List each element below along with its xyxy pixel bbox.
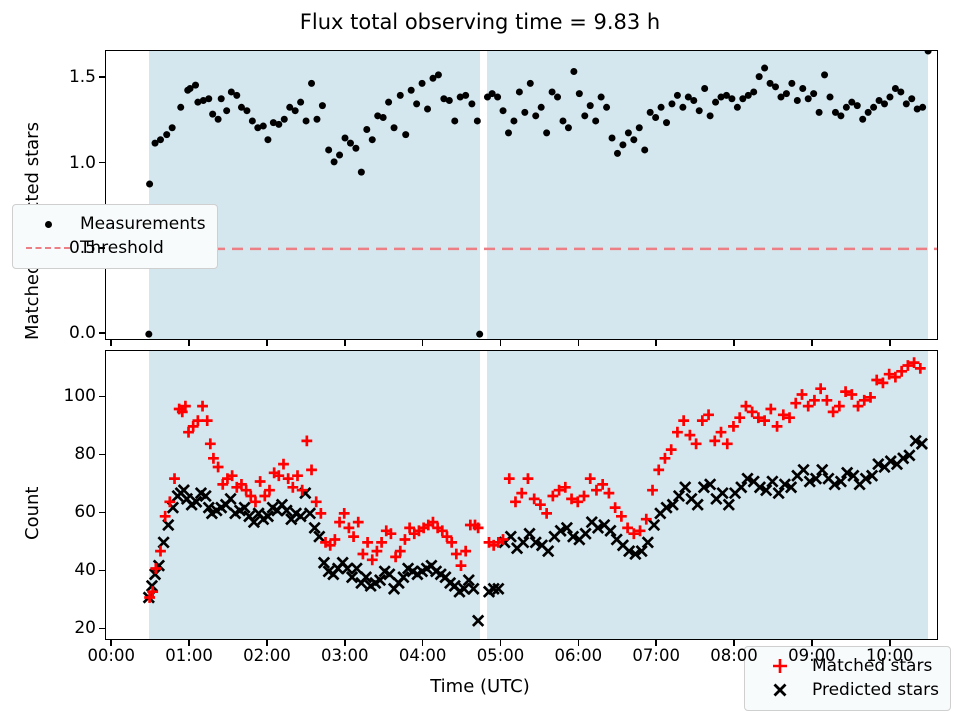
matched-star-point (460, 546, 471, 557)
measurement-point (462, 92, 469, 99)
measurement-point (658, 104, 665, 111)
predicted-star-point (767, 476, 777, 486)
x-tick-label: 00:00 (87, 646, 135, 665)
x-tick-label: 04:00 (399, 646, 447, 665)
measurement-point (352, 145, 359, 152)
measurement-point (772, 83, 779, 90)
top-panel-y-tick-label: 1.0 (36, 153, 96, 173)
matched-star-point (834, 401, 845, 412)
measurement-point (297, 99, 304, 106)
x-tick-mark (266, 640, 268, 646)
matched-star-point (604, 488, 615, 499)
measurement-point (516, 88, 523, 95)
measurement-point (843, 104, 850, 111)
matched-star-point (678, 415, 689, 426)
measurement-point (532, 112, 539, 119)
predicted-star-point (543, 546, 553, 556)
measurement-point (146, 181, 153, 188)
measurement-point (358, 169, 365, 176)
predicted-star-point (643, 537, 653, 547)
measurement-point (177, 104, 184, 111)
bottom-panel-y-tick-label: 40 (36, 560, 96, 580)
measurement-point (897, 88, 904, 95)
measurement-point (446, 97, 453, 104)
matched-star-point (456, 560, 467, 571)
measurement-point (707, 112, 714, 119)
matched-star-point (451, 549, 462, 560)
top-panel-y-tick-mark (99, 332, 105, 334)
measurement-point (303, 117, 310, 124)
x-tick-label: 01:00 (165, 646, 213, 665)
measurement-point (925, 51, 932, 55)
measurement-point (870, 104, 877, 111)
measurement-point (756, 73, 763, 80)
matched-star-point (772, 421, 783, 432)
measurement-point (805, 95, 812, 102)
x-tick-mark-top-panel (188, 340, 190, 346)
measurement-point (336, 152, 343, 159)
x-tick-mark (500, 640, 502, 646)
bottom-panel-y-tick-mark (99, 454, 105, 456)
top-panel-y-tick-label: 1.5 (36, 67, 96, 87)
matched-star-point (666, 444, 677, 455)
measurement-point (761, 65, 768, 72)
matched-star-point (747, 407, 758, 418)
matched-star-point (722, 438, 733, 449)
measurement-point (319, 102, 326, 109)
predicted-star-point (524, 529, 534, 539)
x-tick-mark (578, 640, 580, 646)
x-tick-mark (344, 640, 346, 646)
matched-star-point (353, 517, 364, 528)
x-tick-label: 07:00 (632, 646, 680, 665)
measurement-point (209, 111, 216, 118)
x-tick-mark (422, 640, 424, 646)
x-tick-mark (188, 640, 190, 646)
measurement-point (527, 80, 534, 87)
matched-star-point (709, 436, 720, 447)
matched-star-point (672, 427, 683, 438)
measurement-point (380, 114, 387, 121)
x-tick-mark (889, 640, 891, 646)
matched-star-point (896, 366, 907, 377)
measurement-point (505, 129, 512, 136)
bottom-panel-y-tick-mark (99, 512, 105, 514)
measurement-point (451, 117, 458, 124)
measurement-point (413, 100, 420, 107)
matched-star-point (541, 508, 552, 519)
measurement-point (630, 136, 637, 143)
measurement-point (827, 94, 834, 101)
measurement-point (549, 88, 556, 95)
measurement-point (581, 112, 588, 119)
measurement-point (264, 136, 271, 143)
predicted-star-point (605, 526, 615, 536)
measurement-point (313, 116, 320, 123)
measurement-point (592, 117, 599, 124)
measurement-point (652, 114, 659, 121)
matched-star-point (510, 496, 521, 507)
matched-star-point (703, 409, 714, 420)
measurement-point (636, 124, 643, 131)
predicted-star-point (179, 485, 189, 495)
matched-star-point (311, 496, 322, 507)
predicted-star-point (305, 508, 315, 518)
x-tick-label: 03:00 (321, 646, 369, 665)
measurement-point (500, 107, 507, 114)
measurement-point (169, 124, 176, 131)
x-tick-label: 02:00 (243, 646, 291, 665)
measurement-point (215, 116, 222, 123)
measurement-point (494, 94, 501, 101)
measurement-point (903, 100, 910, 107)
measurement-point (881, 100, 888, 107)
x-tick-mark (655, 640, 657, 646)
measurement-point (598, 94, 605, 101)
measurement-point (854, 102, 861, 109)
matched-star-point (915, 363, 926, 374)
x-tick-label: 09:00 (788, 646, 836, 665)
matched-star-point (610, 502, 621, 513)
measurement-point (347, 140, 354, 147)
measurement-point (919, 104, 926, 111)
top-panel-y-tick-mark (99, 76, 105, 78)
matched-star-point (622, 523, 633, 534)
measurement-point (363, 126, 370, 133)
x-tick-mark-top-panel (655, 340, 657, 346)
measurement-point (783, 90, 790, 97)
x-tick-mark-top-panel (500, 340, 502, 346)
x-tick-mark-top-panel (422, 340, 424, 346)
bottom-panel-y-tick-mark (99, 570, 105, 572)
measurement-point (281, 116, 288, 123)
predicted-star-point (473, 616, 483, 626)
bottom-panel-y-tick-label: 100 (36, 386, 96, 406)
measurement-point (192, 82, 199, 89)
matched-star-point (815, 383, 826, 394)
matched-star-point (821, 395, 832, 406)
measurement-point (810, 90, 817, 97)
measurement-point (614, 150, 621, 157)
bottom-panel-data-layer (106, 351, 937, 639)
measurement-point (205, 95, 212, 102)
matched-star-point (741, 401, 752, 412)
measurement-point (788, 80, 795, 87)
matched-star-point (691, 438, 702, 449)
matched-star-point (155, 546, 166, 557)
top-panel-y-tick-label: 0.5 (36, 238, 96, 258)
matched-star-point (853, 401, 864, 412)
measurement-point (145, 331, 152, 338)
top-panel-y-tick-mark (99, 162, 105, 164)
measurement-point (859, 116, 866, 123)
bottom-panel-y-tick-mark (99, 628, 105, 630)
matched-star-point (400, 534, 411, 545)
matched-star-point (653, 465, 664, 476)
matched-star-point (660, 453, 671, 464)
measurement-point (690, 97, 697, 104)
matched-star-point (728, 421, 739, 432)
predicted-star-point (717, 488, 727, 498)
measurement-point (223, 107, 230, 114)
matched-star-point (529, 494, 540, 505)
measurement-point (369, 136, 376, 143)
measurement-point (647, 109, 654, 116)
matched-star-point (504, 473, 515, 484)
predicted-star-point (724, 500, 734, 510)
matched-star-point (790, 398, 801, 409)
measurement-point (641, 146, 648, 153)
predicted-star-point (680, 482, 690, 492)
top-panel-legend[interactable]: Measurements Threshold (12, 204, 218, 269)
measurement-point (408, 87, 415, 94)
legend-label-measurements: Measurements (74, 212, 206, 236)
top-panel-y-tick-mark (99, 247, 105, 249)
matched-star-point (523, 473, 534, 484)
figure-root: Flux total observing time = 9.83 h Match… (0, 0, 960, 720)
x-tick-mark (811, 640, 813, 646)
measurement-point (476, 331, 483, 338)
measurement-point (865, 109, 872, 116)
measurement-point (674, 92, 681, 99)
matched-star-point (716, 427, 727, 438)
top-panel-plot-area (106, 51, 937, 339)
measurement-point (886, 94, 893, 101)
measurement-point (163, 131, 170, 138)
x-tick-mark-top-panel (266, 340, 268, 346)
matched-star-point (292, 470, 303, 481)
measurement-point (668, 100, 675, 107)
predicted-star-point (649, 520, 659, 530)
measurement-point (587, 102, 594, 109)
measurement-point (908, 95, 915, 102)
bottom-panel-plot-area (106, 351, 937, 639)
measurement-point (712, 99, 719, 106)
top-panel-axes (105, 50, 938, 340)
x-tick-label: 08:00 (710, 646, 758, 665)
x-tick-label: 06:00 (555, 646, 603, 665)
matched-star-point (202, 415, 213, 426)
top-panel-data-layer (106, 51, 937, 339)
measurement-point (565, 124, 572, 131)
matched-star-point (315, 508, 326, 519)
measurement-point (218, 95, 225, 102)
predicted-star-point (798, 465, 808, 475)
predicted-star-point (692, 500, 702, 510)
measurement-point (734, 104, 741, 111)
measurement-point (331, 158, 338, 165)
predicted-star-point (225, 494, 235, 504)
matched-star-point (278, 459, 289, 470)
matched-star-point (358, 549, 369, 560)
predicted-star-point (736, 482, 746, 492)
matched-star-point (306, 465, 317, 476)
x-tick-mark-top-panel (889, 340, 891, 346)
predicted-stars-points (144, 436, 927, 626)
measurement-point (554, 94, 561, 101)
measurement-point (816, 109, 823, 116)
measurement-point (402, 131, 409, 138)
top-panel-y-tick-label: 0.0 (36, 323, 96, 343)
bottom-panel-axes (105, 350, 938, 640)
x-tick-mark-top-panel (578, 340, 580, 346)
matched-star-point (797, 389, 808, 400)
measurement-point (275, 121, 282, 128)
legend-entry-measurements: Measurements (22, 212, 206, 236)
measurement-point (603, 104, 610, 111)
matched-star-point (641, 514, 652, 525)
matched-star-point (585, 473, 596, 484)
matched-star-point (197, 401, 208, 412)
x-tick-mark-top-panel (811, 340, 813, 346)
measurement-point (794, 97, 801, 104)
measurement-point (750, 88, 757, 95)
predicted-star-point (674, 491, 684, 501)
matched-star-point (205, 438, 216, 449)
x-tick-mark-top-panel (110, 340, 112, 346)
matched-star-point (734, 412, 745, 423)
predicted-star-point (817, 465, 827, 475)
figure-title: Flux total observing time = 9.83 h (0, 10, 960, 34)
predicted-star-point (580, 529, 590, 539)
matched-star-point (535, 499, 546, 510)
measurement-point (419, 80, 426, 87)
x-tick-label: 10:00 (866, 646, 914, 665)
matched-star-point (362, 537, 373, 548)
measurement-point (385, 99, 392, 106)
measurement-point (233, 92, 240, 99)
measurements-points (145, 51, 931, 338)
matched-star-point (597, 479, 608, 490)
matched-star-point (803, 401, 814, 412)
matched-star-point (647, 485, 658, 496)
predicted-star-point (773, 488, 783, 498)
predicted-star-point (518, 537, 528, 547)
measurement-point (435, 71, 442, 78)
matched-star-point (169, 473, 180, 484)
measurement-point (625, 129, 632, 136)
matched-star-point (547, 491, 558, 502)
matched-star-point (809, 395, 820, 406)
matched-star-point (591, 485, 602, 496)
x-axis-label: Time (UTC) (0, 676, 960, 697)
measurement-point (510, 117, 517, 124)
measurement-point (696, 107, 703, 114)
measurement-point (663, 119, 670, 126)
measurement-point (260, 123, 267, 130)
measurement-point (521, 109, 528, 116)
matched-star-point (301, 436, 312, 447)
measurement-point (570, 68, 577, 75)
measurement-point (468, 100, 475, 107)
measurement-point (821, 71, 828, 78)
bottom-panel-y-tick-label: 80 (36, 444, 96, 464)
matched-star-point (255, 476, 266, 487)
measurement-point (799, 85, 806, 92)
measurement-point (424, 106, 431, 113)
measurement-point (679, 104, 686, 111)
measurement-point (559, 117, 566, 124)
matched-star-point (765, 404, 776, 415)
measurement-point (292, 107, 299, 114)
measurement-point (325, 146, 332, 153)
x-tick-label: 05:00 (477, 646, 525, 665)
measurement-point (397, 92, 404, 99)
x-tick-mark-top-panel (733, 340, 735, 346)
matched-star-point (828, 407, 839, 418)
measurement-point (619, 141, 626, 148)
measurement-point (538, 104, 545, 111)
measurement-point (543, 129, 550, 136)
bottom-panel-y-tick-label: 20 (36, 618, 96, 638)
bottom-panel-y-tick-label: 60 (36, 502, 96, 522)
x-tick-mark-top-panel (344, 340, 346, 346)
measurement-point (728, 95, 735, 102)
measurement-point (342, 135, 349, 142)
matched-star-point (616, 511, 627, 522)
matched-star-point (697, 415, 708, 426)
measurement-point (474, 117, 481, 124)
measurement-point (249, 117, 256, 124)
measurement-point (576, 90, 583, 97)
measurement-point (391, 124, 398, 131)
x-tick-mark (110, 640, 112, 646)
dot-marker-icon (22, 221, 74, 228)
matched-star-point (684, 430, 695, 441)
measurement-point (157, 136, 164, 143)
x-tick-mark (733, 640, 735, 646)
matched-star-point (579, 491, 590, 502)
measurement-point (308, 80, 315, 87)
measurement-point (609, 135, 616, 142)
measurement-point (837, 112, 844, 119)
measurement-point (701, 85, 708, 92)
measurement-point (243, 107, 250, 114)
bottom-panel-y-tick-mark (99, 396, 105, 398)
matched-star-point (516, 488, 527, 499)
